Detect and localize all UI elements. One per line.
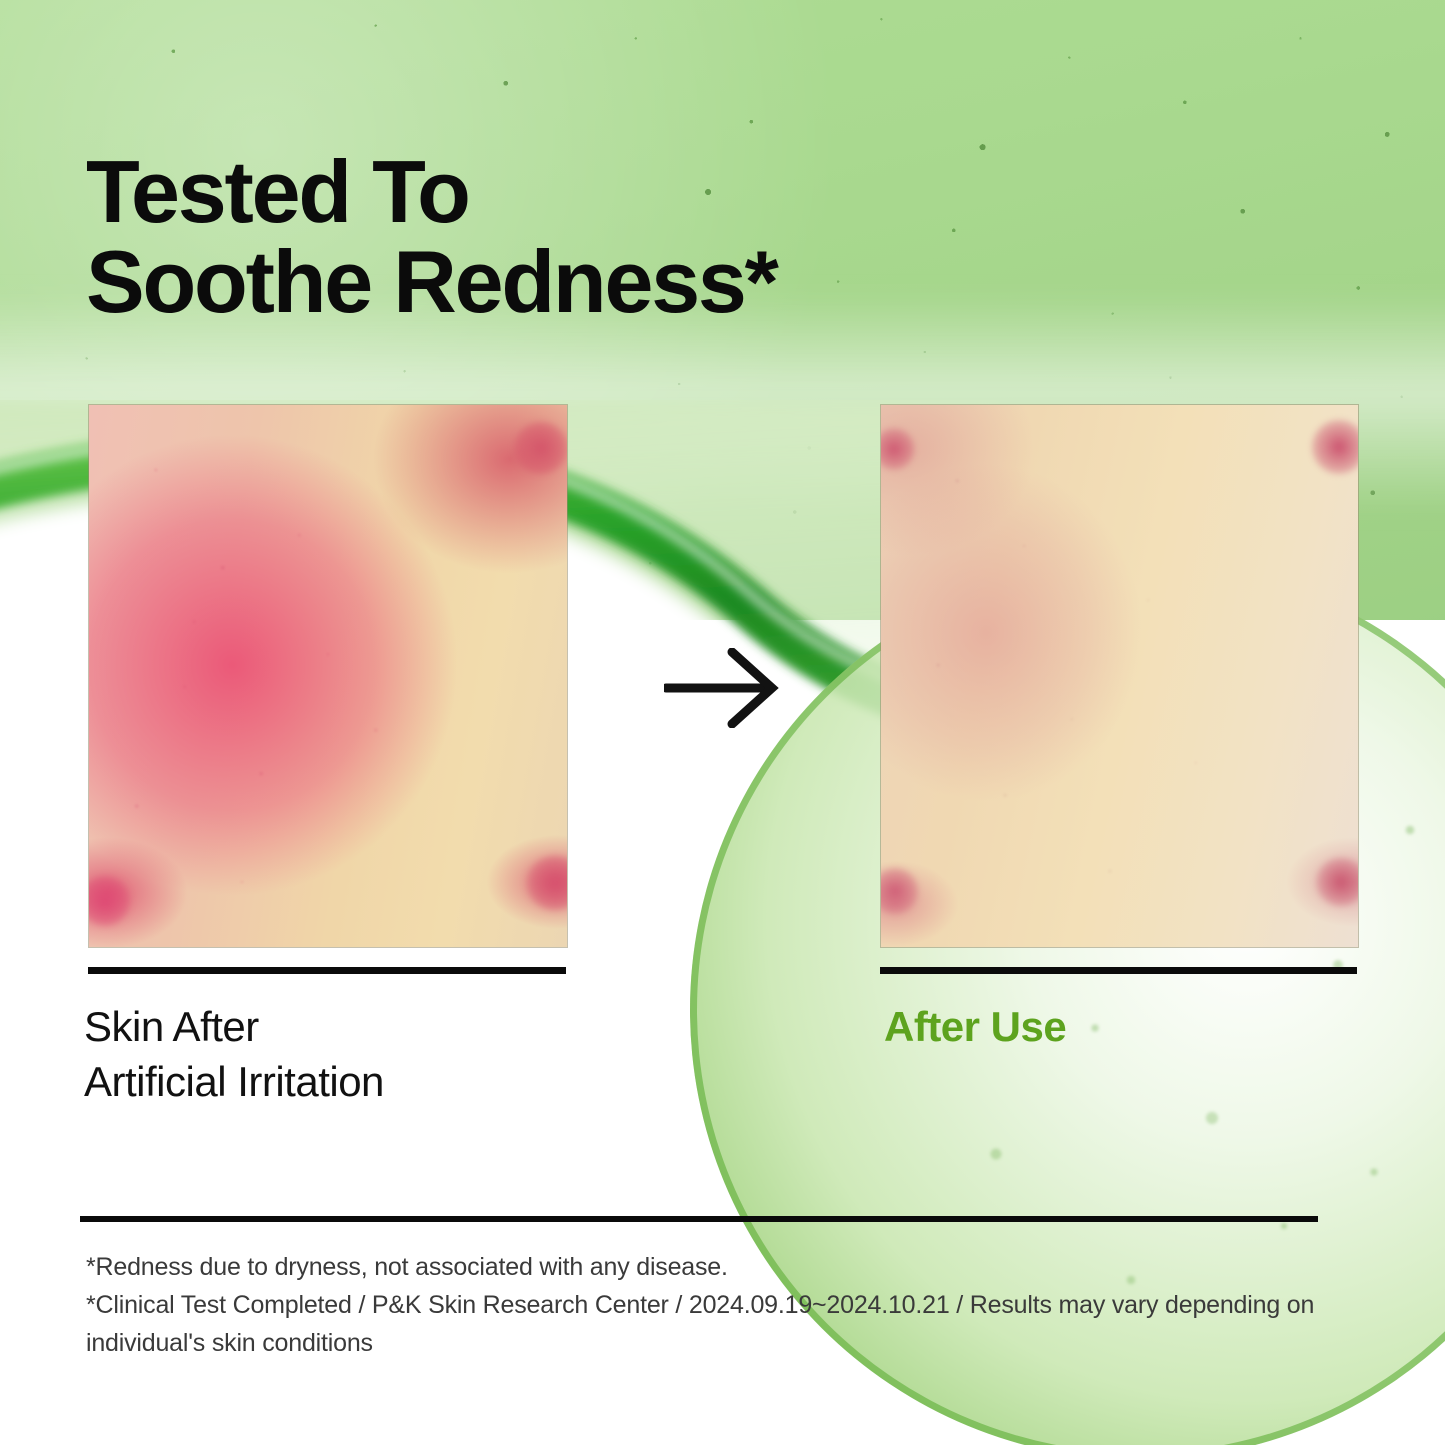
before-skin-grain xyxy=(89,405,567,947)
skin-bump-icon xyxy=(513,421,568,475)
before-caption-rule xyxy=(88,967,566,974)
after-image xyxy=(880,404,1359,948)
footer-divider xyxy=(80,1216,1318,1222)
before-image xyxy=(88,404,568,948)
footnote-block: *Redness due to dryness, not associated … xyxy=(86,1248,1346,1362)
after-caption-rule xyxy=(880,967,1357,974)
after-caption: After Use xyxy=(884,1000,1066,1055)
footnote-line: *Redness due to dryness, not associated … xyxy=(86,1248,1346,1286)
arrow-right-svg xyxy=(664,648,788,728)
footnote-line: *Clinical Test Completed / P&K Skin Rese… xyxy=(86,1286,1346,1362)
before-caption: Skin After Artificial Irritation xyxy=(84,1000,384,1109)
page-title: Tested To Soothe Redness* xyxy=(86,147,777,327)
after-skin-grain xyxy=(881,405,1358,947)
skin-bump-icon xyxy=(1315,857,1359,907)
promo-page: Tested To Soothe Redness* Skin After Art… xyxy=(0,0,1445,1445)
skin-bump-icon xyxy=(1311,419,1359,475)
arrow-right-icon xyxy=(664,648,788,728)
